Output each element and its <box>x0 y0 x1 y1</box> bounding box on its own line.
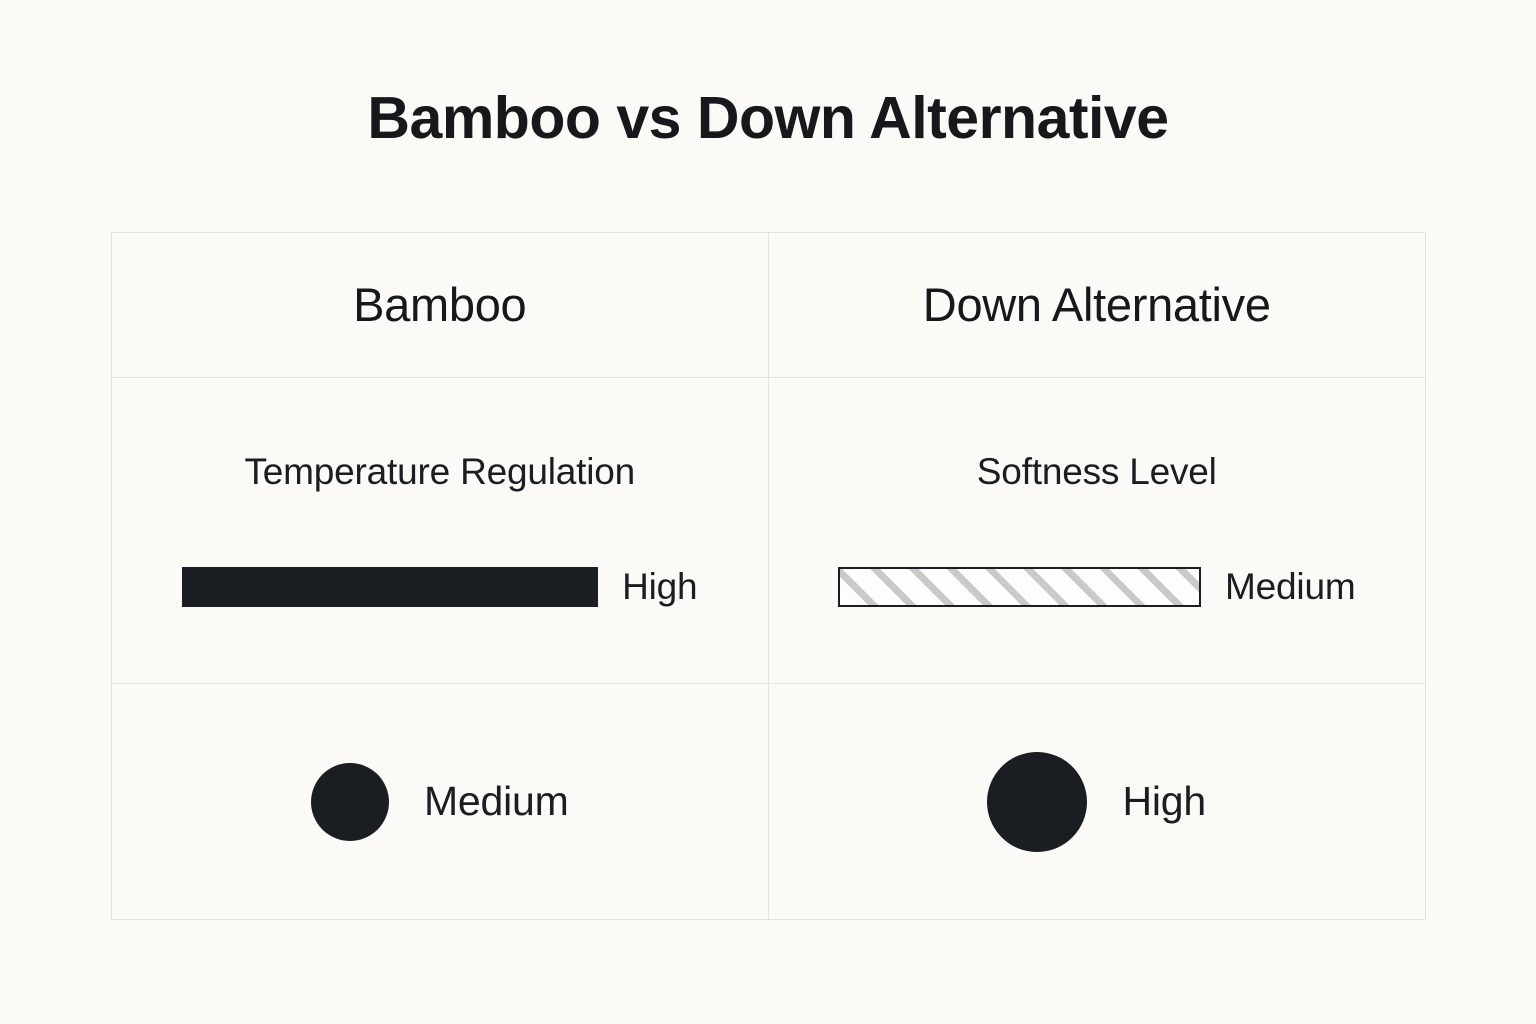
rating-group: Medium <box>311 763 569 841</box>
filled-circle-icon <box>987 752 1087 852</box>
column-header-label: Down Alternative <box>923 279 1271 331</box>
metric-value-label: High <box>622 566 697 608</box>
metric-cell-down-alternative: Softness Level Medium <box>769 378 1426 683</box>
header-cell-bamboo: Bamboo <box>112 233 769 377</box>
rating-value-label: Medium <box>424 778 569 825</box>
table-rating-row: Medium High <box>112 684 1425 919</box>
rating-value-label: High <box>1122 778 1206 825</box>
solid-bar-indicator <box>182 567 598 607</box>
table-metric-row: Temperature Regulation High Softness Lev… <box>112 378 1425 684</box>
metric-gauge: High <box>182 566 697 608</box>
comparison-table: Bamboo Down Alternative Temperature Regu… <box>111 232 1426 920</box>
metric-cell-bamboo: Temperature Regulation High <box>112 378 769 683</box>
rating-group: High <box>987 752 1206 852</box>
hatched-bar-indicator <box>838 567 1201 607</box>
header-cell-down-alternative: Down Alternative <box>769 233 1426 377</box>
metric-label: Temperature Regulation <box>245 451 636 494</box>
metric-value-label: Medium <box>1225 566 1355 608</box>
column-header-label: Bamboo <box>353 279 526 331</box>
filled-circle-icon <box>311 763 389 841</box>
metric-gauge: Medium <box>838 566 1355 608</box>
rating-cell-bamboo: Medium <box>112 684 769 919</box>
rating-cell-down-alternative: High <box>769 684 1426 919</box>
page-title: Bamboo vs Down Alternative <box>0 86 1536 151</box>
table-header-row: Bamboo Down Alternative <box>112 233 1425 378</box>
metric-label: Softness Level <box>977 451 1217 494</box>
